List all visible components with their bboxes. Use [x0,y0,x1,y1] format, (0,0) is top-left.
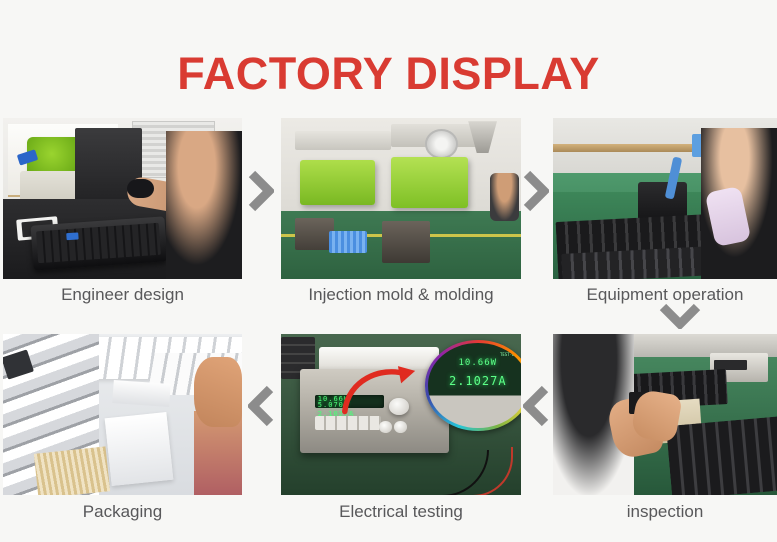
engineer-person [166,131,242,279]
photo-panel-injection-molding[interactable] [281,118,521,279]
computer-mouse [127,179,153,198]
psu-output-terminal-negative[interactable] [394,421,407,433]
caption-electrical-testing: Electrical testing [281,502,521,522]
photo-panel-engineer-design[interactable] [3,118,242,279]
flat-card-stack-large [105,411,174,485]
equipment-operation-photo [553,118,777,279]
photo-panel-inspection[interactable] [553,334,777,495]
caption-packaging: Packaging [3,502,242,522]
psu-output-terminal-positive[interactable] [379,421,392,433]
factory-display-infographic: FACTORY DISPLAY Engineer design [0,0,777,542]
keyboard [30,216,167,270]
magnifier-callout: TEST-DCMW 10.66W 2.1027A [425,340,521,430]
arrow-step2-to-step3-icon [523,170,549,212]
arrow-step6-to-step5-icon [523,385,549,427]
red-callout-arrow-icon [324,363,434,418]
magnifier-content: TEST-DCMW 10.66W 2.1027A [428,343,521,427]
injection-machine-left [300,160,374,205]
arrow-step3-to-step4-icon [659,303,701,329]
adapter-row-lower [666,416,777,495]
photo-panel-equipment-operation[interactable] [553,118,777,279]
inspection-photo [553,334,777,495]
mold-stack-right [382,221,430,263]
blue-crate [329,231,367,254]
photo-panel-packaging[interactable] [3,334,242,495]
factory-worker [490,173,519,221]
flat-card-stack-small [112,380,171,406]
injection-machine-right [391,157,468,209]
caption-equipment-operation: Equipment operation [553,285,777,305]
arrow-step5-to-step4-icon [248,385,274,427]
psu-button-panel[interactable] [315,416,380,429]
bundled-sticks [34,446,110,495]
caption-inspection: inspection [553,502,777,522]
machine-upper-unit-left [295,131,391,150]
magnified-power-reading: 10.66W [436,357,520,370]
electrical-testing-photo: 10.66W 5.070V 2.1027A TEST-DCMW 10.66W 2… [281,334,521,495]
injection-molding-photo [281,118,521,279]
caption-injection-molding: Injection mold & molding [281,285,521,305]
arrow-step1-to-step2-icon [248,170,274,212]
wall-fan [425,129,458,159]
caption-engineer-design: Engineer design [3,285,242,305]
magnified-current-reading: 2.1027A [436,375,520,388]
page-title: FACTORY DISPLAY [0,48,777,100]
worker-hand [194,357,242,428]
engineer-design-photo [3,118,242,279]
packaging-photo [3,334,242,495]
photo-panel-electrical-testing[interactable]: 10.66W 5.070V 2.1027A TEST-DCMW 10.66W 2… [281,334,521,495]
